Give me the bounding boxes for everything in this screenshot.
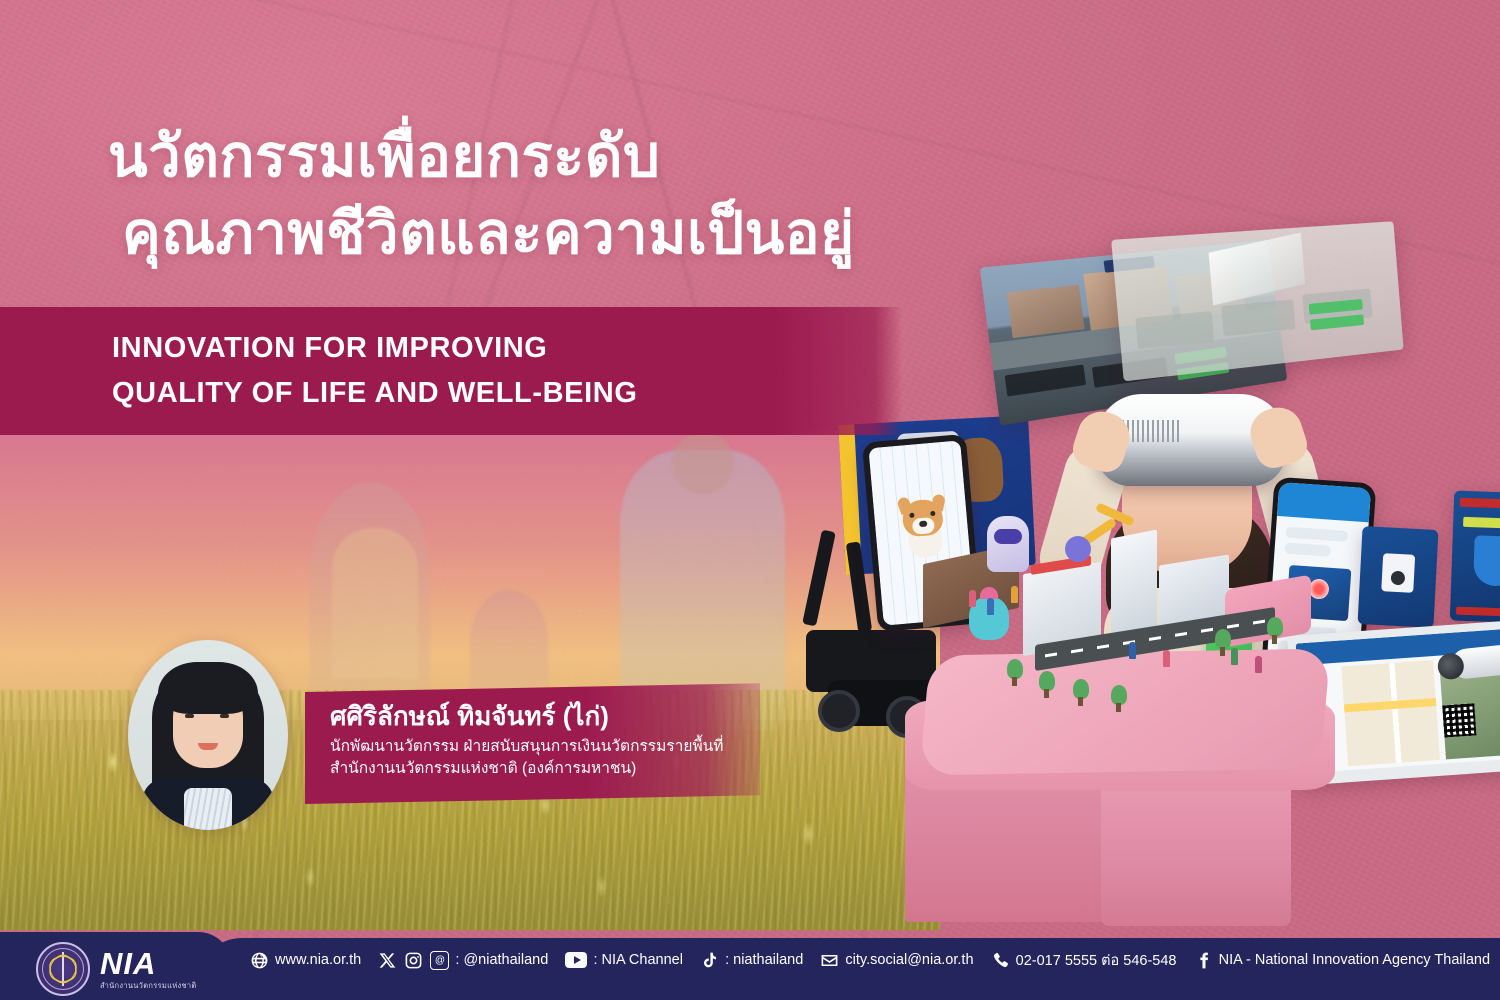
city-tree bbox=[1039, 672, 1055, 698]
website-label: www.nia.or.th bbox=[275, 952, 361, 968]
city-person bbox=[1163, 650, 1170, 667]
speaker-name: ศศิริลักษณ์ ทิมจันทร์ (ไก่) bbox=[330, 700, 800, 733]
headline-line-2: คุณภาพชีวิตและความเป็นอยู่ bbox=[108, 195, 855, 272]
contact-phone[interactable]: 02-017 5555 ต่อ 546-548 bbox=[991, 949, 1177, 972]
panel-24-shield-icon bbox=[1473, 535, 1500, 587]
technology-collage bbox=[820, 230, 1500, 930]
laptop-map-panel bbox=[1341, 660, 1440, 766]
security-camera-panel bbox=[1357, 526, 1438, 628]
footer-bar: NIA สำนักงานนวัตกรรมแห่งชาติ www.nia.or.… bbox=[0, 920, 1500, 1000]
threads-label: : @niathailand bbox=[455, 952, 548, 968]
tiktok-label: : niathailand bbox=[725, 952, 803, 968]
city-service-robot bbox=[987, 516, 1029, 572]
city-tree bbox=[1215, 630, 1231, 656]
laptop-qr-code bbox=[1442, 703, 1476, 737]
avatar-eye-left bbox=[185, 714, 194, 718]
avatar-shirt bbox=[184, 788, 232, 830]
city-tree bbox=[1111, 686, 1127, 712]
city-person bbox=[1129, 642, 1136, 659]
threads-icon: @ bbox=[430, 951, 449, 970]
robotic-arm-hub bbox=[1065, 536, 1091, 562]
silhouette-mother bbox=[310, 482, 430, 712]
youtube-label: : NIA Channel bbox=[593, 952, 682, 968]
page-title: นวัตกรรมเพื่อยกระดับ คุณภาพชีวิตและความเ… bbox=[108, 118, 855, 272]
city-person bbox=[1231, 648, 1238, 665]
avatar bbox=[128, 640, 288, 830]
contact-email[interactable]: city.social@nia.or.th bbox=[820, 951, 973, 970]
city-tree bbox=[1007, 660, 1023, 686]
subtitle-line-2: QUALITY OF LIFE AND WELL-BEING bbox=[112, 371, 902, 416]
contact-youtube[interactable]: : NIA Channel bbox=[565, 952, 682, 968]
city-tree bbox=[1073, 680, 1089, 706]
instagram-icon[interactable] bbox=[404, 951, 423, 970]
city-robotic-arm bbox=[1065, 504, 1135, 566]
youtube-icon bbox=[565, 952, 587, 968]
city-person bbox=[1011, 586, 1018, 603]
panel-24-green-stripe bbox=[1463, 517, 1500, 529]
pedestal-base-right bbox=[1101, 776, 1291, 926]
nia-wordmark-text: NIA bbox=[100, 948, 197, 979]
speaker-role-line-1: นักพัฒนานวัตกรรม ฝ่ายสนับสนุนการเงินนวัต… bbox=[330, 736, 800, 758]
email-label: city.social@nia.or.th bbox=[845, 952, 973, 968]
vr-building-a bbox=[1007, 285, 1085, 339]
nia-wordmark: NIA สำนักงานนวัตกรรมแห่งชาติ bbox=[100, 948, 197, 990]
contact-website[interactable]: www.nia.or.th bbox=[250, 951, 361, 970]
city-person bbox=[969, 590, 976, 607]
facebook-label: NIA - National Innovation Agency Thailan… bbox=[1219, 952, 1490, 968]
subtitle-band: INNOVATION FOR IMPROVING QUALITY OF LIFE… bbox=[0, 307, 902, 435]
city-person bbox=[987, 598, 994, 615]
avatar-eye-right bbox=[220, 714, 229, 718]
subtitle-line-1: INNOVATION FOR IMPROVING bbox=[112, 326, 902, 371]
city-person bbox=[1255, 656, 1262, 673]
24h-security-panel bbox=[1450, 491, 1500, 624]
nia-wordmark-subtitle: สำนักงานนวัตกรรมแห่งชาติ bbox=[100, 982, 197, 990]
rig-wheel-1 bbox=[818, 690, 860, 732]
city-tree bbox=[1267, 618, 1283, 644]
x-twitter-icon[interactable] bbox=[378, 951, 397, 970]
vr-dash-card-1 bbox=[1135, 311, 1214, 349]
contact-facebook[interactable]: NIA - National Innovation Agency Thailan… bbox=[1194, 951, 1490, 970]
avatar-fringe bbox=[158, 662, 258, 714]
robot-visor bbox=[994, 529, 1022, 544]
sunset-family-photo bbox=[0, 430, 940, 930]
isometric-smart-city bbox=[915, 530, 1315, 730]
panel-camera-icon bbox=[1381, 553, 1415, 593]
nia-logo[interactable]: NIA สำนักงานนวัตกรรมแห่งชาติ bbox=[36, 942, 197, 996]
speaker-role-line-2: สำนักงานนวัตกรรมแห่งชาติ (องค์การมหาชน) bbox=[330, 758, 800, 780]
contact-threads[interactable]: @ : @niathailand bbox=[430, 951, 548, 970]
vr-iso-model bbox=[1209, 233, 1306, 306]
poster-canvas: นวัตกรรมเพื่อยกระดับ คุณภาพชีวิตและความเ… bbox=[0, 0, 1500, 1000]
rig-arm-1 bbox=[802, 530, 836, 627]
rig-arm-2 bbox=[846, 541, 872, 632]
phone-chat-header bbox=[1277, 482, 1371, 522]
phone-label: 02-017 5555 ต่อ 546-548 bbox=[1016, 949, 1177, 972]
nia-seal-icon bbox=[36, 942, 90, 996]
tiktok-icon bbox=[700, 951, 719, 970]
panel-24-bottom-stripe bbox=[1456, 607, 1500, 618]
contact-tiktok[interactable]: : niathailand bbox=[700, 951, 803, 970]
globe-icon bbox=[250, 951, 269, 970]
email-icon bbox=[820, 951, 839, 970]
phone-icon bbox=[991, 951, 1010, 970]
facebook-icon bbox=[1194, 951, 1213, 970]
panel-24-top-stripe bbox=[1460, 498, 1500, 510]
dog-ear-right bbox=[931, 493, 946, 511]
atom-icon bbox=[50, 956, 76, 982]
headline-line-1: นวัตกรรมเพื่อยกระดับ bbox=[108, 124, 660, 189]
footer-contacts: www.nia.or.th @ : @niathailand : NIA Cha… bbox=[250, 920, 1490, 1000]
vr-dash-card-2 bbox=[1221, 299, 1295, 336]
speaker-info: ศศิริลักษณ์ ทิมจันทร์ (ไก่) นักพัฒนานวัต… bbox=[330, 700, 800, 780]
